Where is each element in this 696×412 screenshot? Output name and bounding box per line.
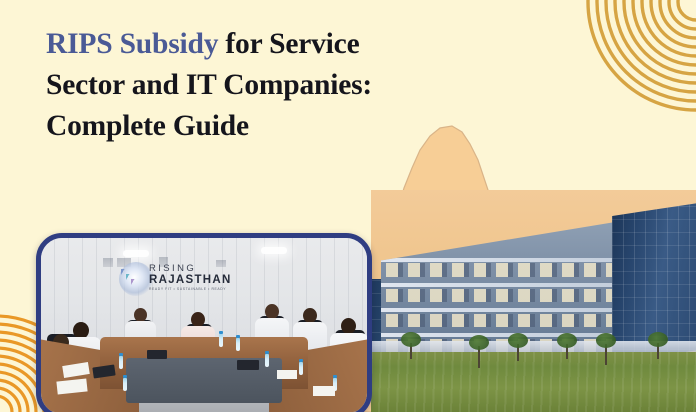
ceiling-light (123, 250, 149, 257)
tree (605, 344, 607, 365)
branding-line-1: RISING (149, 264, 241, 274)
lawn (371, 352, 696, 412)
tree (478, 346, 480, 368)
tree (657, 343, 659, 359)
page-title: RIPS Subsidy for Service Sector and IT C… (46, 24, 476, 147)
title-accent-text: RIPS Subsidy (46, 28, 218, 60)
water-bottle (265, 354, 269, 367)
branding-line-2: RAJASTHAN (149, 274, 241, 286)
title-rest-line1: for Service (218, 28, 359, 60)
meeting-photo: RISING RAJASTHAN READY FIT • SUSTAINABLE… (36, 233, 372, 412)
water-bottle (236, 338, 240, 351)
tree (517, 344, 519, 361)
tree (410, 343, 412, 359)
rising-rajasthan-burst-icon (119, 262, 153, 296)
window-row (381, 289, 635, 302)
water-bottle (123, 378, 127, 391)
window-row (381, 314, 635, 327)
paper (313, 386, 335, 396)
paper (277, 370, 297, 379)
rising-rajasthan-logo: RISING RAJASTHAN READY FIT • SUSTAINABLE… (149, 264, 241, 292)
branding-line-3: READY FIT • SUSTAINABLE • READY (149, 286, 241, 292)
banner-title-block: RIPS Subsidy for Service Sector and IT C… (46, 24, 476, 147)
window-row (381, 263, 635, 276)
building-photo (371, 190, 696, 412)
banner-root: RIPS Subsidy for Service Sector and IT C… (0, 0, 696, 412)
balcony-band (381, 308, 635, 312)
laptop (237, 360, 259, 370)
balcony-band (381, 283, 635, 287)
emblem (103, 258, 113, 267)
water-bottle (299, 362, 303, 375)
balcony-band (381, 258, 635, 262)
ceiling-light (261, 247, 287, 254)
tree (566, 344, 568, 359)
title-line3: Complete Guide (46, 110, 249, 142)
title-line2: Sector and IT Companies: (46, 69, 372, 101)
water-bottle (219, 334, 223, 347)
laptop (147, 350, 167, 359)
water-bottle (119, 356, 123, 369)
